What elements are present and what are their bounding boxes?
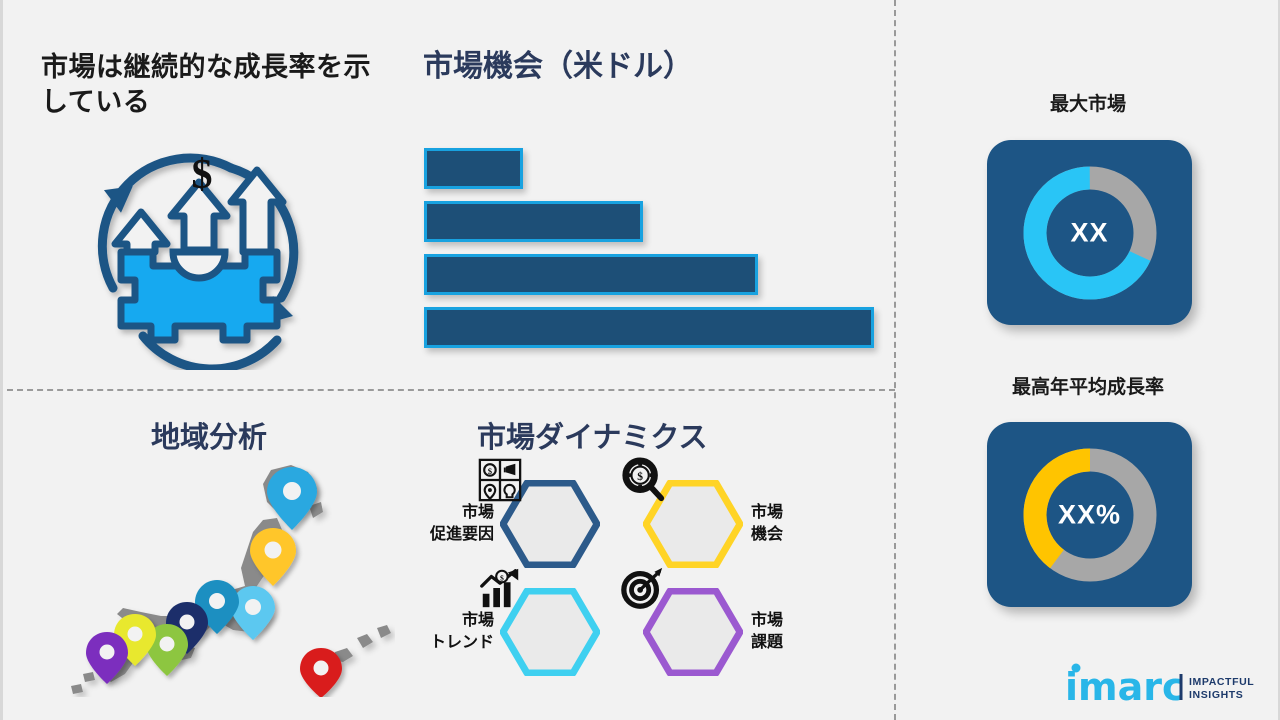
slide-canvas: 市場は継続的な成長率を示している (0, 0, 1280, 720)
dynamics-item-opportunities[interactable]: $ 市場 機会 (643, 480, 837, 568)
dollar-symbol: $ (192, 152, 213, 198)
bar-row (424, 201, 643, 242)
map-pin-group (86, 467, 342, 697)
hexagon-opportunities: $ (643, 480, 743, 568)
hexagon-challenges (643, 588, 743, 676)
dynamics-label: 市場 課題 (751, 610, 837, 653)
dynamics-item-drivers[interactable]: 市場 促進要因 $ (408, 480, 600, 568)
market-dynamics-grid: 市場 促進要因 $ (403, 478, 843, 678)
vertical-divider (894, 0, 896, 720)
dynamics-panel-title: 市場ダイナミクス (477, 420, 708, 456)
hexagon-drivers: $ (500, 480, 600, 568)
svg-text:$: $ (500, 573, 504, 582)
dollar-magnifier-icon: $ (620, 457, 666, 503)
logo-tagline-line2: INSIGHTS (1189, 689, 1243, 701)
dynamics-label: 市場 機会 (751, 502, 837, 545)
map-pin (300, 648, 342, 697)
dynamics-label: 市場 トレンド (408, 610, 494, 653)
highest-cagr-title: 最高年平均成長率 (943, 376, 1233, 400)
opportunity-panel-title: 市場機会（米ドル） (423, 48, 873, 86)
bar-row (424, 307, 874, 348)
imarc-logo: imarc IMPACTFUL INSIGHTS (1063, 660, 1258, 706)
target-dart-icon (620, 565, 666, 611)
svg-text:$: $ (637, 470, 643, 483)
map-pin (231, 586, 275, 640)
region-panel-title: 地域分析 (151, 420, 267, 456)
hexagon-trends: $ (500, 588, 600, 676)
horizontal-divider (7, 389, 895, 391)
largest-market-donut-card: XX (987, 140, 1192, 325)
puzzle-pieces-icon: $ (477, 457, 523, 503)
largest-market-value: XX (987, 217, 1192, 248)
highest-cagr-donut-card: XX% (987, 422, 1192, 607)
highest-cagr-value: XX% (987, 499, 1192, 530)
dynamics-label: 市場 促進要因 (408, 502, 494, 545)
logo-wordmark: imarc (1065, 665, 1185, 706)
growth-panel-title: 市場は継続的な成長率を示している (41, 50, 391, 119)
growth-bar-chart-icon: $ (477, 565, 523, 611)
dynamics-item-trends[interactable]: 市場 トレンド $ (408, 588, 600, 676)
market-opportunity-bar-chart (421, 144, 881, 354)
japan-map (65, 462, 395, 697)
bar-row (424, 148, 523, 189)
svg-text:$: $ (488, 466, 493, 476)
logo-tagline-line1: IMPACTFUL (1189, 676, 1254, 688)
dynamics-item-challenges[interactable]: 市場 課題 (643, 588, 837, 676)
largest-market-title: 最大市場 (943, 93, 1233, 117)
bar-row (424, 254, 758, 295)
growth-cycle-gear-icon: $ (81, 140, 316, 370)
